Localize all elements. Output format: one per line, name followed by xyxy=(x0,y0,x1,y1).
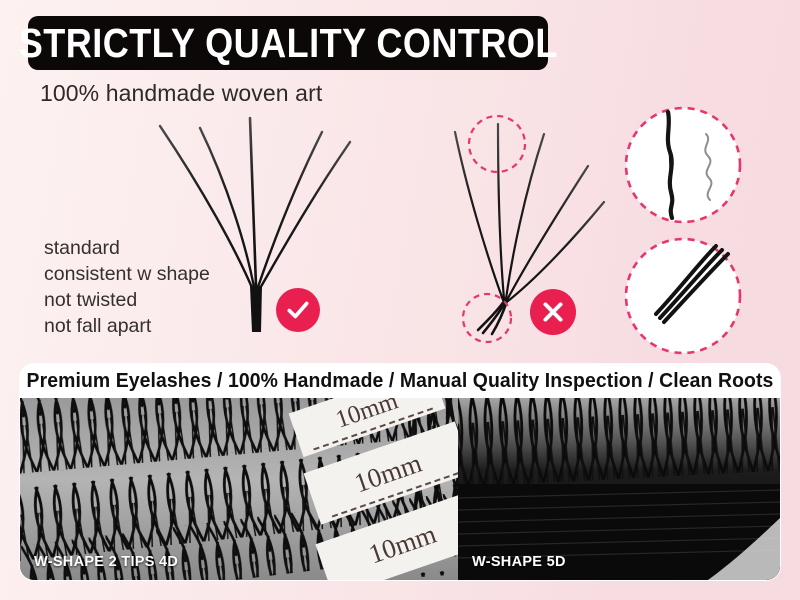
splayed-root-callout xyxy=(626,239,740,353)
product-infographic: STRICTLY QUALITY CONTROL 100% handmade w… xyxy=(0,0,800,600)
close-icon xyxy=(540,299,566,325)
cross-badge xyxy=(530,289,576,335)
bad-twist-highlight-circle xyxy=(469,116,525,172)
quality-bullet-list: standard consistent w shape not twisted … xyxy=(44,236,210,340)
photo-w-shape-2-tips-4d: 10mm 10mm 10mm W-SHAPE 2 TIPS 4D xyxy=(20,398,458,580)
page-title: STRICTLY QUALITY CONTROL xyxy=(18,23,557,64)
bullet-item: consistent w shape xyxy=(44,262,210,288)
bad-root-highlight-circle xyxy=(463,294,511,342)
page-subtitle: 100% handmade woven art xyxy=(40,80,322,107)
good-lash-base xyxy=(250,286,262,332)
bad-lash-roots xyxy=(478,300,507,334)
bullet-item: not twisted xyxy=(44,288,210,314)
title-banner: STRICTLY QUALITY CONTROL xyxy=(28,16,548,70)
feature-banner-text: Premium Eyelashes / 100% Handmade / Manu… xyxy=(27,370,774,393)
photo-row: 10mm 10mm 10mm W-SHAPE 2 TIPS 4D xyxy=(20,398,780,580)
lash-tray-photo-right xyxy=(458,398,780,580)
length-label: 10mm xyxy=(365,518,440,570)
crinkled-fiber-callout xyxy=(626,108,740,222)
photo-caption-right: W-SHAPE 5D xyxy=(472,554,566,570)
length-label: 10mm xyxy=(350,447,425,499)
check-icon xyxy=(285,297,311,323)
bullet-item: standard xyxy=(44,236,210,262)
check-badge xyxy=(276,288,320,332)
bullet-item: not fall apart xyxy=(44,314,210,340)
bad-lash-fan xyxy=(455,124,604,301)
photo-caption-left: W-SHAPE 2 TIPS 4D xyxy=(34,554,178,570)
photo-w-shape-5d: W-SHAPE 5D xyxy=(458,398,780,580)
product-photo-panel: Premium Eyelashes / 100% Handmade / Manu… xyxy=(20,364,780,580)
feature-banner: Premium Eyelashes / 100% Handmade / Manu… xyxy=(20,364,780,398)
